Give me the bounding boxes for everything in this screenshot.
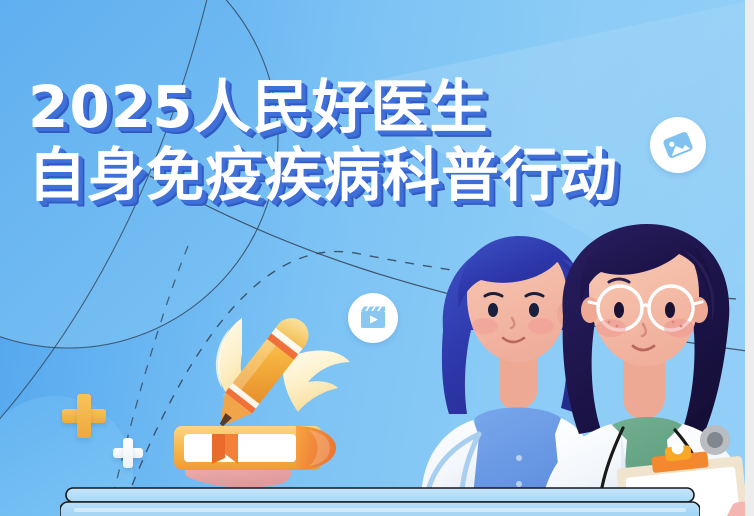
- image-icon: [659, 126, 697, 164]
- right-edge-strip: [745, 0, 754, 516]
- image-badge[interactable]: [650, 117, 706, 173]
- plus-icon-bar-vertical: [77, 394, 91, 438]
- banner-title: 2025人民好医生 自身免疫疾病科普行动: [28, 78, 618, 204]
- video-badge[interactable]: [348, 293, 398, 343]
- plus-icon-bar-vertical: [123, 438, 133, 468]
- eye: [488, 303, 498, 317]
- pencil-book-illustration: [168, 300, 358, 500]
- campaign-banner: 2025人民好医生 自身免疫疾病科普行动: [0, 0, 754, 516]
- doctors-illustration: [415, 222, 750, 516]
- plus-decor-small: [113, 438, 143, 468]
- eye: [529, 303, 539, 317]
- eye: [614, 302, 624, 318]
- title-line-secondary: 自身免疫疾病科普行动: [28, 146, 618, 204]
- eye: [665, 302, 675, 318]
- title-line-primary: 2025人民好医生: [28, 78, 618, 136]
- desk-illustration: [60, 486, 700, 516]
- book-illustration: [174, 426, 336, 470]
- video-clapperboard-icon: [356, 301, 390, 335]
- plus-decor-large: [62, 394, 106, 438]
